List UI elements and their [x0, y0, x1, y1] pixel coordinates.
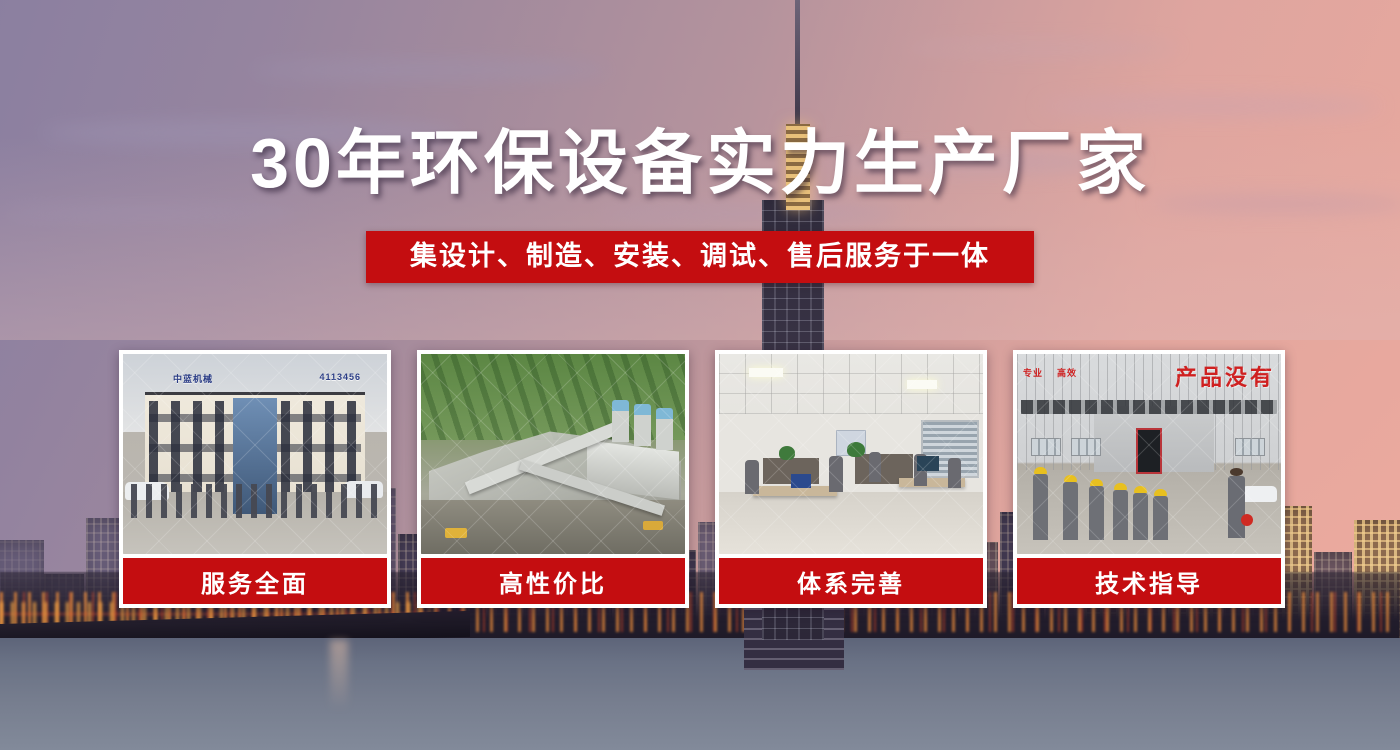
building-phone-text: 4113456: [319, 372, 361, 382]
cloud: [0, 205, 300, 221]
feature-card[interactable]: 高性价比: [417, 350, 689, 608]
company-headquarters-photo: 中蓝机械 4113456: [123, 354, 387, 554]
factory-slogans: 专业 高效: [1023, 366, 1077, 379]
cloud: [900, 40, 1180, 56]
river-reflection: [330, 640, 348, 710]
feature-card[interactable]: 专业 高效 产品没有: [1013, 350, 1285, 608]
tower-spire: [795, 0, 800, 126]
promo-banner: 30年环保设备实力生产厂家 集设计、制造、安装、调试、售后服务于一体 中蓝机械 …: [0, 0, 1400, 750]
card-caption: 技术指导: [1017, 558, 1281, 604]
subtitle-badge: 集设计、制造、安装、调试、售后服务于一体: [366, 231, 1034, 283]
cloud: [1040, 95, 1380, 117]
aerial-industrial-plant-photo: [421, 354, 685, 554]
card-caption: 体系完善: [719, 558, 983, 604]
river: [0, 638, 1400, 750]
page-title: 30年环保设备实力生产厂家: [0, 128, 1400, 198]
factory-workers-training-photo: 专业 高效 产品没有: [1017, 354, 1281, 554]
subtitle-container: 集设计、制造、安装、调试、售后服务于一体: [0, 231, 1400, 283]
building-sign-text: 中蓝机械: [173, 372, 213, 385]
card-caption: 服务全面: [123, 558, 387, 604]
feature-card-list: 中蓝机械 4113456 服务全面: [119, 350, 1281, 608]
feature-card[interactable]: 体系完善: [715, 350, 987, 608]
staff-row: [131, 484, 379, 518]
cloud: [250, 60, 610, 80]
office-interior-photo: [719, 354, 983, 554]
card-caption: 高性价比: [421, 558, 685, 604]
cloud: [600, 205, 900, 223]
factory-slogan: 专业: [1023, 366, 1043, 379]
factory-banner-text: 产品没有: [1175, 360, 1275, 392]
feature-card[interactable]: 中蓝机械 4113456 服务全面: [119, 350, 391, 608]
factory-slogan: 高效: [1057, 366, 1077, 379]
